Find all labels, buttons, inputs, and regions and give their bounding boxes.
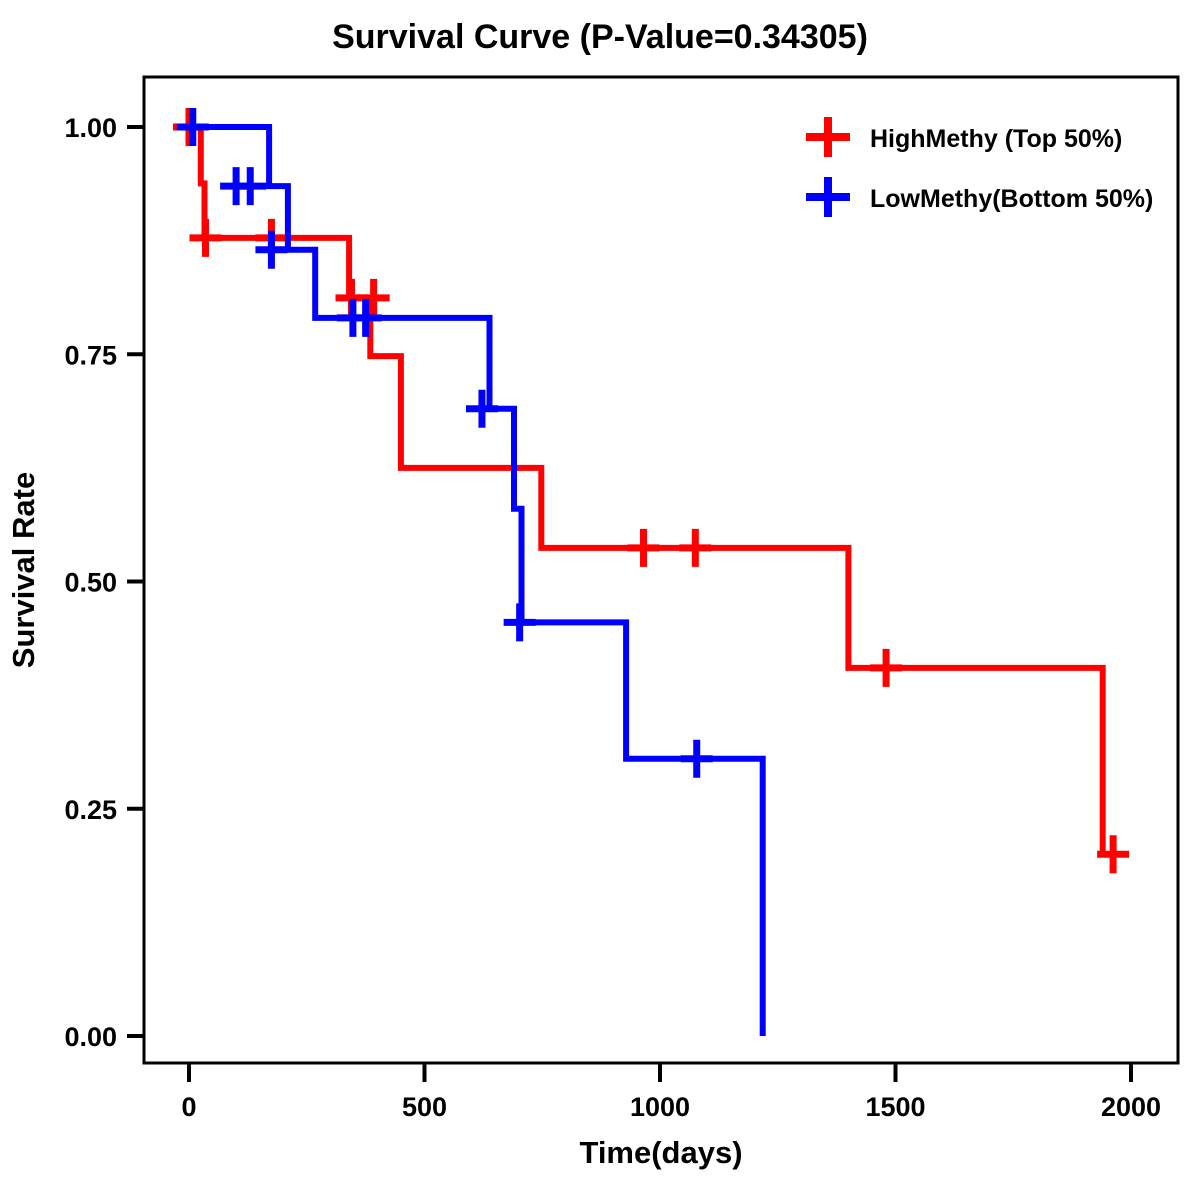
y-tick-label: 0.75 [64, 340, 117, 370]
legend-label: HighMethy (Top 50%) [870, 125, 1122, 153]
y-axis-ticks: 0.000.250.500.751.00 [64, 113, 144, 1052]
chart-page: Survival Curve (P-Value=0.34305) 0.000.2… [0, 0, 1200, 1200]
legend-label: LowMethy(Bottom 50%) [870, 185, 1153, 213]
x-tick-label: 2000 [1101, 1092, 1161, 1122]
survival-chart: 0.000.250.500.751.00 0500100015002000 Ti… [0, 0, 1200, 1200]
x-tick-label: 0 [181, 1092, 196, 1122]
y-axis-label: Survival Rate [6, 472, 41, 668]
x-tick-label: 500 [402, 1092, 447, 1122]
y-tick-label: 0.25 [64, 795, 117, 825]
plot-panel-border [144, 77, 1178, 1063]
y-tick-label: 0.00 [64, 1022, 117, 1052]
x-tick-label: 1000 [630, 1092, 690, 1122]
x-axis-ticks: 0500100015002000 [181, 1063, 1161, 1122]
y-tick-label: 0.50 [64, 568, 117, 598]
x-axis-label: Time(days) [579, 1135, 742, 1170]
y-tick-label: 1.00 [64, 113, 117, 143]
x-tick-label: 1500 [865, 1092, 925, 1122]
